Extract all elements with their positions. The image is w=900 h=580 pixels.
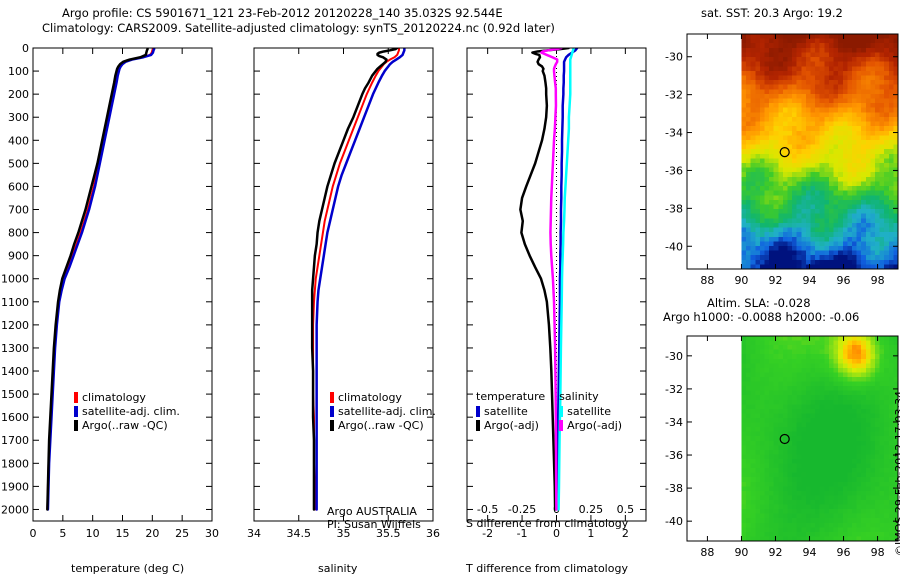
x-tick-label: 34.5 (287, 527, 312, 540)
legend-swatch-icon (330, 420, 334, 431)
series-argo-raw-qc- (47, 48, 147, 509)
legend-column-1: temperaturesatelliteArgo(-adj) (476, 390, 545, 432)
x-tick-label: 15 (116, 527, 130, 540)
map-y-tick-label: -36 (665, 449, 683, 462)
depth-tick-label: 1900 (1, 480, 29, 493)
legend-label: satellite (567, 405, 611, 418)
temperature-legend: climatologysatellite-adj. clim.Argo(..ra… (74, 390, 180, 432)
legend-item: Argo(-adj) (476, 418, 545, 432)
salinity-difference-axis-label: S difference from climatology (466, 517, 628, 530)
legend-column-2: salinitysatelliteArgo(-adj) (559, 390, 622, 432)
legend-label: Argo(-adj) (484, 419, 539, 432)
legend-swatch-icon (330, 392, 334, 403)
attribution-line-1: Argo AUSTRALIA (327, 505, 417, 518)
map-x-tick-label: 92 (768, 546, 782, 559)
legend-swatch-icon (74, 392, 78, 403)
map-x-tick-label: 96 (837, 546, 851, 559)
legend-item: satellite-adj. clim. (74, 404, 180, 418)
map-x-tick-label: 96 (837, 274, 851, 287)
x-tick-label: 0 (30, 527, 37, 540)
salinity-axis-label: salinity (318, 562, 357, 575)
title-line-2: Climatology: CARS2009. Satellite-adjuste… (42, 21, 555, 35)
legend-label: satellite-adj. clim. (82, 405, 180, 418)
depth-tick-label: 1200 (1, 319, 29, 332)
map-y-tick-label: -40 (665, 240, 683, 253)
x-tick-label: 25 (175, 527, 189, 540)
difference-legend: temperaturesatelliteArgo(-adj)salinitysa… (476, 390, 622, 432)
depth-tick-label: 600 (8, 180, 29, 193)
map-x-tick-label: 98 (871, 546, 885, 559)
series-satellite-adj-clim- (48, 48, 154, 509)
temperature-profile-panel: 0100200300400500600700800900100011001200… (0, 40, 245, 545)
map-y-tick-label: -38 (665, 202, 683, 215)
sla-map[interactable]: 889092949698-30-32-34-36-38-40 (660, 326, 900, 566)
x2-tick-label: 0.5 (617, 503, 635, 516)
legend-label: climatology (82, 391, 146, 404)
legend-item: Argo(..raw -QC) (74, 418, 180, 432)
map-y-tick-label: -30 (665, 51, 683, 64)
title-line-1: Argo profile: CS 5901671_121 23-Feb-2012… (62, 6, 503, 20)
argo-profile-figure: Argo profile: CS 5901671_121 23-Feb-2012… (0, 0, 900, 580)
legend-column-header: salinity (559, 390, 622, 404)
sst-map[interactable]: 889092949698-30-32-34-36-38-40 (660, 24, 900, 294)
series-climatology (313, 48, 399, 509)
legend-swatch-icon (74, 420, 78, 431)
x-tick-label: 20 (145, 527, 159, 540)
map-y-tick-label: -36 (665, 164, 683, 177)
legend-label: satellite (484, 405, 528, 418)
legend-column-header: temperature (476, 390, 545, 404)
depth-tick-label: 1600 (1, 411, 29, 424)
legend-label: Argo(..raw -QC) (338, 419, 424, 432)
map-y-tick-label: -38 (665, 482, 683, 495)
series-argo-raw-qc- (312, 48, 397, 509)
heatmap-cells (741, 34, 898, 270)
legend-item: Argo(..raw -QC) (330, 418, 436, 432)
legend-label: Argo(..raw -QC) (82, 419, 168, 432)
legend-swatch-icon (559, 406, 563, 417)
depth-tick-label: 0 (22, 42, 29, 55)
depth-tick-label: 900 (8, 250, 29, 263)
difference-profile-plot[interactable]: -2-1012-0.5-0.2500.250.5 (434, 40, 679, 545)
depth-tick-label: 1800 (1, 457, 29, 470)
map-x-tick-label: 88 (700, 274, 714, 287)
x2-tick-label: 0.25 (579, 503, 604, 516)
salinity-profile-plot[interactable]: 3434.53535.536 (221, 40, 466, 545)
legend-item: climatology (74, 390, 180, 404)
map-x-tick-label: 98 (871, 274, 885, 287)
depth-tick-label: 400 (8, 134, 29, 147)
map-y-tick-label: -32 (665, 89, 683, 102)
sla-map-title-line-2: Argo h1000: -0.0088 h2000: -0.06 (663, 310, 859, 324)
depth-tick-label: 2000 (1, 503, 29, 516)
depth-tick-label: 1100 (1, 296, 29, 309)
legend-label: satellite-adj. clim. (338, 405, 436, 418)
legend-item: satellite-adj. clim. (330, 404, 436, 418)
map-y-tick-label: -32 (665, 383, 683, 396)
attribution-line-2: PI: Susan Wijffels (327, 518, 421, 531)
depth-tick-label: 500 (8, 157, 29, 170)
legend-swatch-icon (74, 406, 78, 417)
depth-tick-label: 200 (8, 88, 29, 101)
depth-tick-label: 700 (8, 204, 29, 217)
x-tick-label: 10 (86, 527, 100, 540)
sst-map-title: sat. SST: 20.3 Argo: 19.2 (701, 6, 843, 20)
salinity-legend: climatologysatellite-adj. clim.Argo(..ra… (330, 390, 436, 432)
map-x-tick-label: 90 (734, 274, 748, 287)
sla-map-title-line-1: Altim. SLA: -0.028 (707, 296, 811, 310)
salinity-profile-panel: 3434.53535.536 (221, 40, 466, 545)
legend-label: Argo(-adj) (567, 419, 622, 432)
depth-tick-label: 1400 (1, 365, 29, 378)
temperature-axis-label: temperature (deg C) (71, 562, 184, 575)
series-satellite-adj-clim- (317, 48, 405, 509)
temperature-profile-plot[interactable]: 0100200300400500600700800900100011001200… (0, 40, 245, 545)
map-y-tick-label: -30 (665, 350, 683, 363)
sst-map-panel: 889092949698-30-32-34-36-38-40 (660, 24, 900, 294)
depth-tick-label: 1700 (1, 434, 29, 447)
map-x-tick-label: 88 (700, 546, 714, 559)
depth-tick-label: 800 (8, 227, 29, 240)
depth-tick-label: 300 (8, 111, 29, 124)
depth-tick-label: 100 (8, 65, 29, 78)
map-y-tick-label: -40 (665, 515, 683, 528)
map-y-tick-label: -34 (665, 127, 683, 140)
x-tick-label: 30 (205, 527, 219, 540)
map-x-tick-label: 90 (734, 546, 748, 559)
map-x-tick-label: 92 (768, 274, 782, 287)
legend-label: climatology (338, 391, 402, 404)
x-tick-label: 5 (59, 527, 66, 540)
legend-swatch-icon (476, 420, 480, 431)
series-salinity-satellite (559, 48, 574, 509)
legend-item: Argo(-adj) (559, 418, 622, 432)
map-x-tick-label: 94 (803, 274, 817, 287)
legend-swatch-icon (476, 406, 480, 417)
legend-item: satellite (559, 404, 622, 418)
legend-item: climatology (330, 390, 436, 404)
x2-tick-label: -0.25 (508, 503, 536, 516)
depth-tick-label: 1500 (1, 388, 29, 401)
temperature-difference-axis-label: T difference from climatology (466, 562, 628, 575)
legend-swatch-icon (559, 420, 563, 431)
sla-map-panel: 889092949698-30-32-34-36-38-40 (660, 326, 900, 566)
x-tick-label: 34 (247, 527, 261, 540)
x2-tick-label: -0.5 (477, 503, 498, 516)
plot-frame (254, 48, 433, 521)
difference-profile-panel: -2-1012-0.5-0.2500.250.5 (434, 40, 679, 545)
legend-item: satellite (476, 404, 545, 418)
map-x-tick-label: 94 (803, 546, 817, 559)
legend-swatch-icon (330, 406, 334, 417)
map-y-tick-label: -34 (665, 416, 683, 429)
depth-tick-label: 1300 (1, 342, 29, 355)
depth-tick-label: 1000 (1, 273, 29, 286)
heatmap-cells (741, 336, 898, 542)
